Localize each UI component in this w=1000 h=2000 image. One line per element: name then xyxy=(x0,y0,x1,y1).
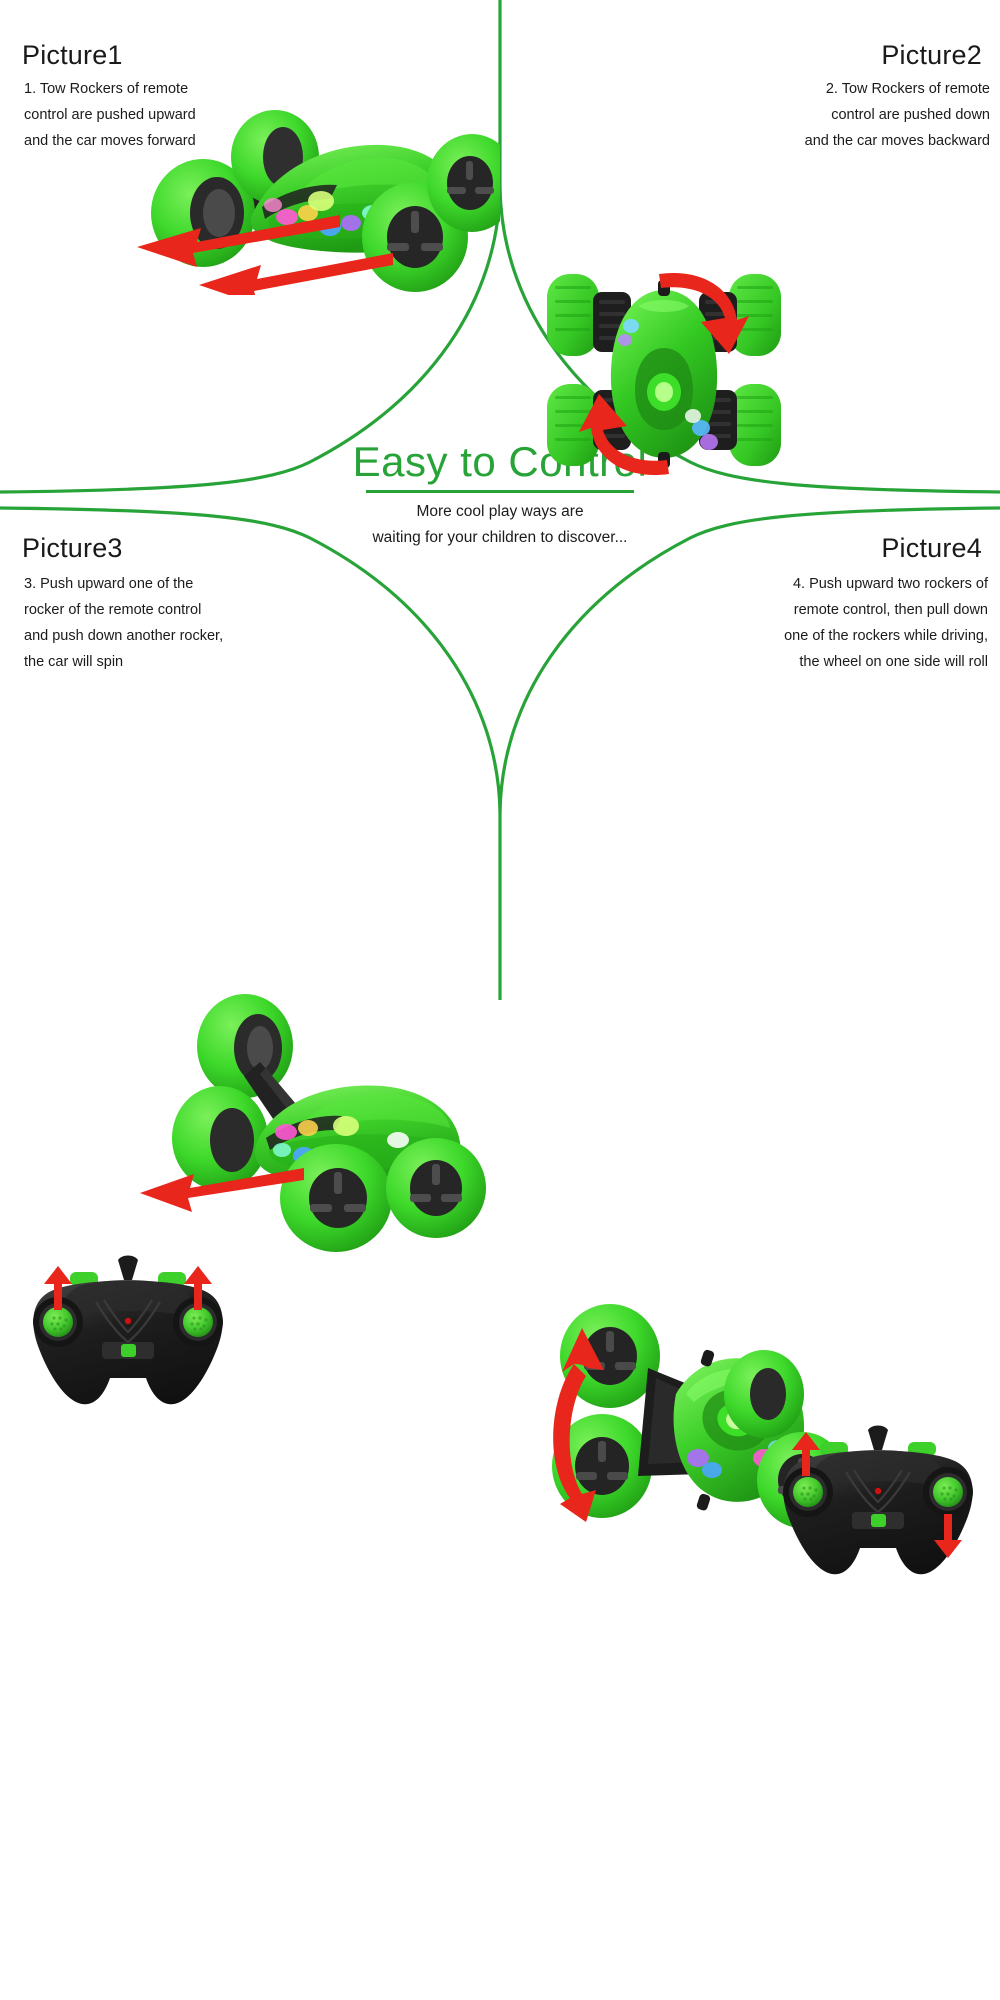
tire-left xyxy=(172,1086,268,1190)
panel-title-picture2: Picture2 xyxy=(881,40,982,71)
panel-body-picture3: 3. Push upward one of the rocker of the … xyxy=(24,571,223,675)
headline-underline xyxy=(366,490,634,493)
tire-raised xyxy=(197,994,293,1098)
infographic-canvas: Picture1 1. Tow Rockers of remote contro… xyxy=(0,0,1000,1000)
panel4-line-3: one of the rockers while driving, xyxy=(784,623,988,649)
panel3-line-4: the car will spin xyxy=(24,649,223,675)
panel3-line-2: rocker of the remote control xyxy=(24,597,223,623)
panel3-line-1: 3. Push upward one of the xyxy=(24,571,223,597)
left-joystick[interactable] xyxy=(793,1477,823,1507)
car-image-picture3 xyxy=(140,990,1000,1255)
panel4-line-4: the wheel on one side will roll xyxy=(784,649,988,675)
tire-rear-right-3 xyxy=(386,1138,486,1238)
subtitle-line-1: More cool play ways are xyxy=(0,499,1000,525)
car-image-picture2 xyxy=(533,262,1000,487)
power-led xyxy=(125,1318,131,1324)
panel4-line-1: 4. Push upward two rockers of xyxy=(784,571,988,597)
left-joystick[interactable] xyxy=(43,1307,73,1337)
panel-body-picture4: 4. Push upward two rockers of remote con… xyxy=(784,571,988,675)
power-switch[interactable] xyxy=(102,1342,154,1359)
power-switch[interactable] xyxy=(852,1512,904,1529)
right-joystick[interactable] xyxy=(933,1477,963,1507)
subtitle-line-2: waiting for your children to discover... xyxy=(0,525,1000,551)
tire-front-right-3 xyxy=(280,1144,392,1252)
controller-picture2 xyxy=(768,1420,988,1590)
controller-picture1 xyxy=(18,1250,238,1420)
panel-title-picture1: Picture1 xyxy=(22,40,123,71)
panel3-line-3: and push down another rocker, xyxy=(24,623,223,649)
right-joystick[interactable] xyxy=(183,1307,213,1337)
power-led xyxy=(875,1488,881,1494)
panel4-line-2: remote control, then pull down xyxy=(784,597,988,623)
